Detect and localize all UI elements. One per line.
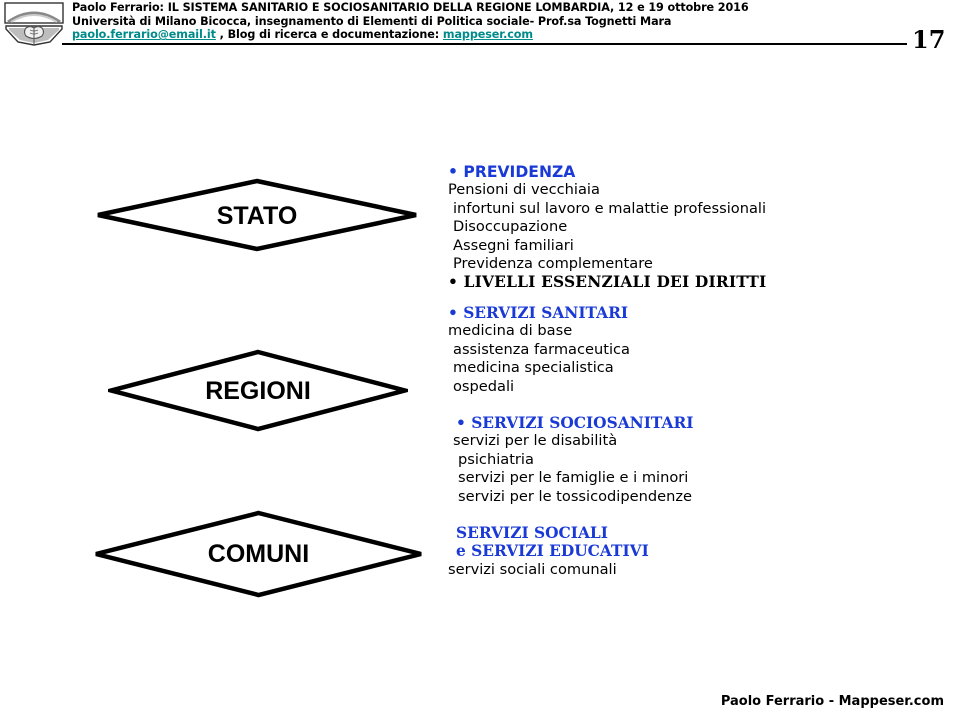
- page-number: 17: [912, 28, 945, 52]
- university-emblem-logo: [4, 2, 64, 46]
- list-item: servizi per le disabilità: [448, 432, 918, 450]
- list-item: servizi sociali comunali: [448, 561, 918, 579]
- list-item: medicina di base: [448, 322, 918, 340]
- node-label-stato: STATO: [95, 204, 419, 229]
- text-block-servizi-sociosanitari: • SERVIZI SOCIOSANITARI servizi per le d…: [448, 414, 918, 506]
- blog-link[interactable]: mappeser.com: [443, 28, 533, 41]
- text-block-servizi-sociali: SERVIZI SOCIALI e SERVIZI EDUCATIVI serv…: [448, 524, 918, 579]
- node-label-comuni: COMUNI: [93, 542, 424, 567]
- block-heading-servizi-sanitari: • SERVIZI SANITARI: [448, 304, 918, 322]
- list-item: Disoccupazione: [448, 218, 918, 236]
- header-line-1: Paolo Ferrario: IL SISTEMA SANITARIO E S…: [72, 1, 862, 15]
- diagram-node-stato: STATO: [95, 178, 419, 252]
- list-item: servizi per le tossicodipendenze: [448, 488, 918, 506]
- block-heading-previdenza: • PREVIDENZA: [448, 163, 918, 181]
- header-credit-text: Paolo Ferrario: IL SISTEMA SANITARIO E S…: [72, 1, 862, 42]
- header-line-3: paolo.ferrario@email.it , Blog di ricerc…: [72, 28, 862, 42]
- header-line-3-middle: , Blog di ricerca e documentazione:: [216, 28, 443, 41]
- block-heading-servizi-sociali: SERVIZI SOCIALI: [448, 524, 918, 542]
- list-item: Assegni familiari: [448, 237, 918, 255]
- header-line-2: Università di Milano Bicocca, insegnamen…: [72, 15, 862, 29]
- list-item: ospedali: [448, 378, 918, 396]
- diagram-node-regioni: REGIONI: [108, 349, 408, 432]
- block-heading-servizi-educativi: e SERVIZI EDUCATIVI: [448, 542, 918, 560]
- list-item: medicina specialistica: [448, 359, 918, 377]
- text-block-previdenza: • PREVIDENZA Pensioni di vecchiaia infor…: [448, 163, 918, 292]
- slide-footer: Paolo Ferrario - Mappeser.com: [0, 694, 944, 709]
- list-item: assistenza farmaceutica: [448, 341, 918, 359]
- block-heading-servizi-sociosanitari: • SERVIZI SOCIOSANITARI: [448, 414, 918, 432]
- list-item: Previdenza complementare: [448, 255, 918, 273]
- diagram-node-comuni: COMUNI: [93, 510, 424, 598]
- text-block-servizi-sanitari: • SERVIZI SANITARI medicina di base assi…: [448, 304, 918, 396]
- email-link[interactable]: paolo.ferrario@email.it: [72, 28, 216, 41]
- slide-header: Paolo Ferrario: IL SISTEMA SANITARIO E S…: [0, 0, 960, 52]
- block-subheading-livelli-essenziali: • LIVELLI ESSENZIALI DEI DIRITTI: [448, 273, 918, 291]
- list-item: Pensioni di vecchiaia: [448, 181, 918, 199]
- list-item: psichiatria: [448, 451, 918, 469]
- header-divider-rule: [62, 43, 907, 45]
- node-label-regioni: REGIONI: [108, 379, 408, 404]
- list-item: servizi per le famiglie e i minori: [448, 469, 918, 487]
- list-item: infortuni sul lavoro e malattie professi…: [448, 200, 918, 218]
